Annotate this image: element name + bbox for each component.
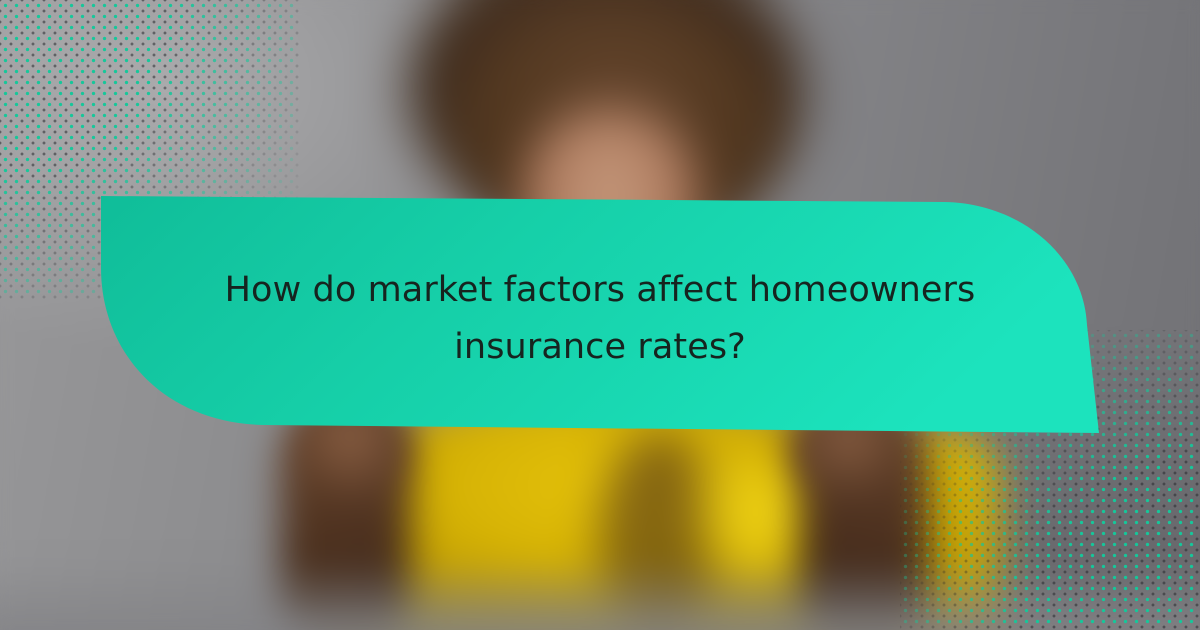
social-card: How do market factors affect homeowners … (0, 0, 1200, 630)
page-title: How do market factors affect homeowners … (186, 262, 1014, 376)
